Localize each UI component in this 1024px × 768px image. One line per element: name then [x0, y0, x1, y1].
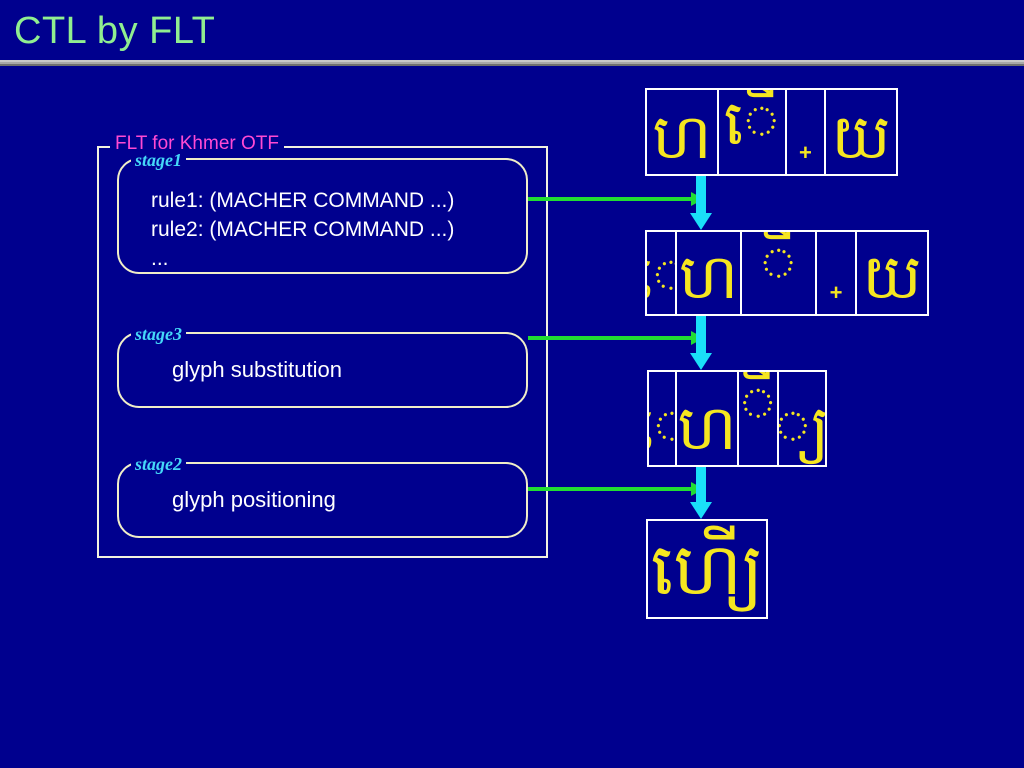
- khmer-composed-cluster: ហើ្យ: [651, 533, 764, 605]
- arrow-shaft: [696, 175, 706, 213]
- glyph-cell: ហ: [677, 232, 742, 314]
- khmer-glyph-dotted-circle: ី: [760, 234, 796, 296]
- glyph-cell-dotted-circle: ី: [742, 232, 817, 314]
- arrowhead-down-icon: [690, 213, 712, 230]
- khmer-glyph: ហ: [679, 246, 738, 308]
- glyph-cell-diacritic: ី: [739, 372, 779, 465]
- khmer-glyph-dotted-circle: ើ: [724, 92, 780, 154]
- arrow-shaft: [528, 487, 691, 491]
- cyan-arrow-row1-to-row2: [690, 175, 712, 230]
- khmer-glyph: េ: [647, 246, 677, 308]
- glyph-cell: ើ: [719, 90, 787, 174]
- glyph-cell: េ: [647, 232, 677, 314]
- khmer-diacritic-glyph: ី: [740, 374, 776, 436]
- green-arrow-stage3: [528, 331, 704, 345]
- glyph-row-substituted: េ ហ ី ្យ: [647, 370, 827, 467]
- glyph-cell-plus: +: [817, 232, 857, 314]
- stage3-content: glyph substitution: [172, 355, 342, 384]
- stage2-label: stage2: [131, 454, 186, 474]
- title-divider: [0, 60, 1024, 66]
- cyan-arrow-row2-to-row3: [690, 315, 712, 370]
- khmer-glyph: ហ: [677, 397, 736, 459]
- glyph-cell: េ: [649, 372, 677, 465]
- page-title: CTL by FLT: [14, 8, 215, 54]
- arrowhead-down-icon: [690, 502, 712, 519]
- khmer-glyph: យ: [832, 106, 891, 168]
- slide-canvas: CTL by FLT FLT for Khmer OTF stage1 rule…: [0, 0, 1024, 768]
- arrow-shaft: [528, 336, 691, 340]
- khmer-glyph: យ: [862, 246, 921, 308]
- glyph-cell: យ: [826, 90, 896, 174]
- plus-sign: +: [799, 142, 812, 164]
- arrowhead-down-icon: [690, 353, 712, 370]
- glyph-cell-plus: +: [787, 90, 826, 174]
- plus-sign: +: [830, 282, 843, 304]
- khmer-glyph: េ: [649, 397, 677, 459]
- glyph-row-reordered: េ ហ ី + យ: [645, 230, 929, 316]
- stage3-label: stage3: [131, 324, 186, 344]
- stage2-content: glyph positioning: [172, 485, 336, 514]
- glyph-row-input: ហ ើ + យ: [645, 88, 898, 176]
- glyph-cell-subscript: ្យ: [779, 372, 825, 465]
- glyph-cell-composed: ហើ្យ: [648, 521, 766, 617]
- glyph-cell: យ: [857, 232, 927, 314]
- stage1-content: rule1: (MACHER COMMAND ...) rule2: (MACH…: [151, 186, 454, 273]
- khmer-glyph: ហ: [652, 106, 711, 168]
- glyph-cell: ហ: [677, 372, 739, 465]
- cyan-arrow-row3-to-row4: [690, 466, 712, 519]
- khmer-subscript-glyph: ្យ: [779, 397, 825, 459]
- glyph-row-final: ហើ្យ: [646, 519, 768, 619]
- stage1-label: stage1: [131, 150, 186, 170]
- stage1-rule-line: ...: [151, 244, 454, 273]
- arrow-shaft: [528, 197, 691, 201]
- glyph-cell: ហ: [647, 90, 719, 174]
- green-arrow-stage2: [528, 482, 704, 496]
- stage1-rule-line: rule1: (MACHER COMMAND ...): [151, 186, 454, 215]
- stage1-rule-line: rule2: (MACHER COMMAND ...): [151, 215, 454, 244]
- green-arrow-stage1: [528, 192, 704, 206]
- arrow-shaft: [696, 315, 706, 353]
- arrow-shaft: [696, 466, 706, 502]
